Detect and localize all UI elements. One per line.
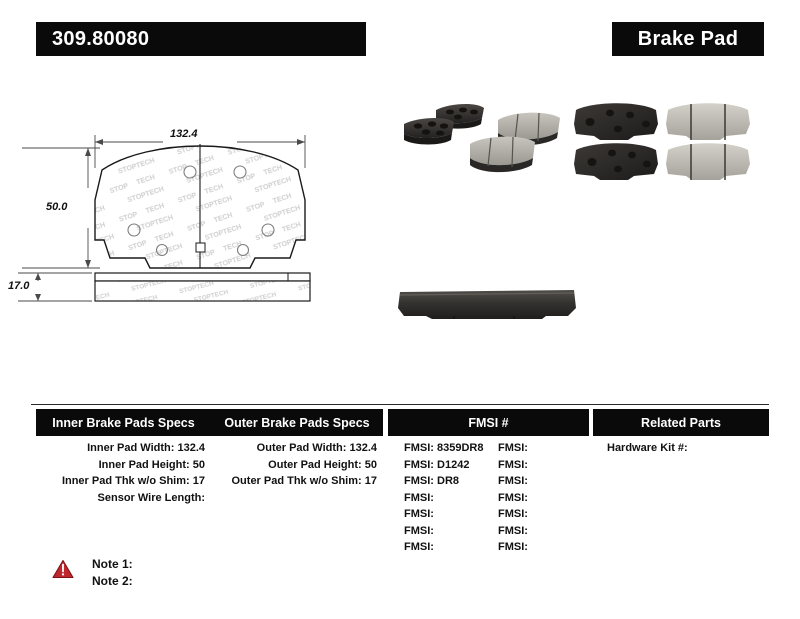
spec-value: 17 (193, 475, 205, 487)
fmsi-entry-right: FMSI: (498, 457, 588, 474)
fmsi-label: FMSI: (498, 442, 528, 454)
note-lines: Note 1: Note 2: (92, 556, 133, 590)
spec-value: 132.4 (349, 442, 377, 454)
spec-row: Outer Pad Thk w/o Shim: 17 (211, 473, 383, 490)
fmsi-entry-right: FMSI: (498, 473, 588, 490)
column-header-fmsi-label: FMSI # (468, 416, 508, 430)
fmsi-entry-left: FMSI: DR8 (388, 473, 498, 490)
fmsi-entry-left: FMSI: (388, 490, 498, 507)
spec-value: 50 (365, 459, 377, 471)
column-header-inner-specs-label: Inner Brake Pads Specs (52, 416, 194, 430)
warning-triangle-icon (52, 559, 74, 579)
fmsi-entry-left: FMSI: (388, 539, 498, 556)
height-dimension-label: 50.0 (46, 201, 67, 213)
technical-drawing: STOP TECH STOPTECH STOPTECH STOPTECH (0, 60, 400, 390)
notes-section: Note 1: Note 2: (52, 556, 133, 590)
spec-row: Inner Pad Thk w/o Shim: 17 (31, 473, 211, 490)
spec-label: Outer Pad Width: (257, 442, 347, 454)
fmsi-label: FMSI: (498, 525, 528, 537)
table-top-rule (31, 404, 769, 405)
column-header-outer-specs: Outer Brake Pads Specs (211, 409, 383, 436)
pad-photo-grey-front (470, 137, 535, 173)
fmsi-row: FMSI: FMSI: (388, 490, 589, 507)
spec-label: Sensor Wire Length: (98, 492, 205, 504)
fmsi-value: DR8 (437, 475, 459, 487)
width-dimension-label: 132.4 (170, 128, 198, 140)
spec-label: Inner Pad Height: (99, 459, 190, 471)
fmsi-entry-right: FMSI: (498, 539, 588, 556)
related-part-label: Hardware Kit #: (607, 442, 688, 454)
spec-label: Outer Pad Height: (268, 459, 362, 471)
fmsi-column: FMSI: 8359DR8 FMSI: FMSI: D1242 FMSI: FM… (388, 440, 589, 556)
column-header-outer-specs-label: Outer Brake Pads Specs (224, 416, 369, 430)
column-header-related-parts-label: Related Parts (641, 416, 721, 430)
pad-photo-black-front (404, 118, 454, 144)
inner-specs-column: Inner Pad Width: 132.4 Inner Pad Height:… (31, 440, 211, 506)
note-line: Note 1: (92, 556, 133, 573)
fmsi-label: FMSI: (404, 541, 434, 553)
brake-pad-edge-photo (396, 278, 578, 330)
column-header-related-parts: Related Parts (593, 409, 769, 436)
fmsi-label: FMSI: (498, 475, 528, 487)
fmsi-row: FMSI: DR8 FMSI: (388, 473, 589, 490)
fmsi-label: FMSI: (404, 459, 434, 471)
outer-specs-column: Outer Pad Width: 132.4 Outer Pad Height:… (211, 440, 383, 490)
spec-row: Outer Pad Width: 132.4 (211, 440, 383, 457)
fmsi-row: FMSI: FMSI: (388, 506, 589, 523)
fmsi-row: FMSI: FMSI: (388, 539, 589, 556)
pad-photo-black-bottom-left (574, 143, 658, 180)
related-parts-column: Hardware Kit #: (593, 440, 769, 457)
fmsi-entry-left: FMSI: (388, 506, 498, 523)
pad-photo-black-top-left (574, 103, 658, 140)
column-header-fmsi: FMSI # (388, 409, 589, 436)
part-number-bar: 309.80080 (36, 22, 366, 56)
spec-row: Inner Pad Width: 132.4 (31, 440, 211, 457)
related-part-row: Hardware Kit #: (593, 440, 769, 457)
fmsi-label: FMSI: (404, 492, 434, 504)
spec-sheet-page: 309.80080 Brake Pad STOP TECH STOPTECH S… (0, 0, 800, 619)
fmsi-label: FMSI: (404, 508, 434, 520)
fmsi-row: FMSI: 8359DR8 FMSI: (388, 440, 589, 457)
fmsi-label: FMSI: (404, 442, 434, 454)
fmsi-label: FMSI: (404, 475, 434, 487)
fmsi-value: D1242 (437, 459, 469, 471)
fmsi-label: FMSI: (498, 459, 528, 471)
part-number-text: 309.80080 (36, 28, 149, 51)
fmsi-row: FMSI: D1242 FMSI: (388, 457, 589, 474)
fmsi-label: FMSI: (498, 508, 528, 520)
cad-svg: STOP TECH STOPTECH STOPTECH STOPTECH (0, 60, 400, 390)
fmsi-entry-left: FMSI: 8359DR8 (388, 440, 498, 457)
fmsi-entry-right: FMSI: (498, 440, 588, 457)
thickness-dimension-label: 17.0 (8, 280, 29, 292)
pad-side-view (95, 273, 310, 301)
spec-label: Inner Pad Thk w/o Shim: (62, 475, 190, 487)
spec-label: Inner Pad Width: (87, 442, 174, 454)
product-type-text: Brake Pad (638, 28, 739, 51)
spec-value: 132.4 (177, 442, 205, 454)
product-type-bar: Brake Pad (612, 22, 764, 56)
brake-pads-iso-photo (398, 96, 574, 184)
note-line: Note 2: (92, 573, 133, 590)
pad-photo-grey-bottom-right (666, 143, 750, 180)
spec-row: Sensor Wire Length: (31, 490, 211, 507)
spec-row: Outer Pad Height: 50 (211, 457, 383, 474)
fmsi-row: FMSI: FMSI: (388, 523, 589, 540)
fmsi-entry-left: FMSI: D1242 (388, 457, 498, 474)
fmsi-entry-right: FMSI: (498, 523, 588, 540)
fmsi-label: FMSI: (498, 492, 528, 504)
spec-value: 50 (193, 459, 205, 471)
fmsi-entry-right: FMSI: (498, 490, 588, 507)
fmsi-entry-right: FMSI: (498, 506, 588, 523)
fmsi-value: 8359DR8 (437, 442, 483, 454)
spec-row: Inner Pad Height: 50 (31, 457, 211, 474)
column-header-inner-specs: Inner Brake Pads Specs (36, 409, 211, 436)
table-header-row: Inner Brake Pads Specs Outer Brake Pads … (31, 409, 769, 436)
fmsi-label: FMSI: (404, 525, 434, 537)
fmsi-label: FMSI: (498, 541, 528, 553)
fmsi-entry-left: FMSI: (388, 523, 498, 540)
pad-photo-grey-top-right (666, 103, 750, 140)
brake-pads-top-photo (568, 96, 756, 188)
pad-front-view (95, 144, 305, 268)
spec-label: Outer Pad Thk w/o Shim: (232, 475, 362, 487)
spec-value: 17 (365, 475, 377, 487)
